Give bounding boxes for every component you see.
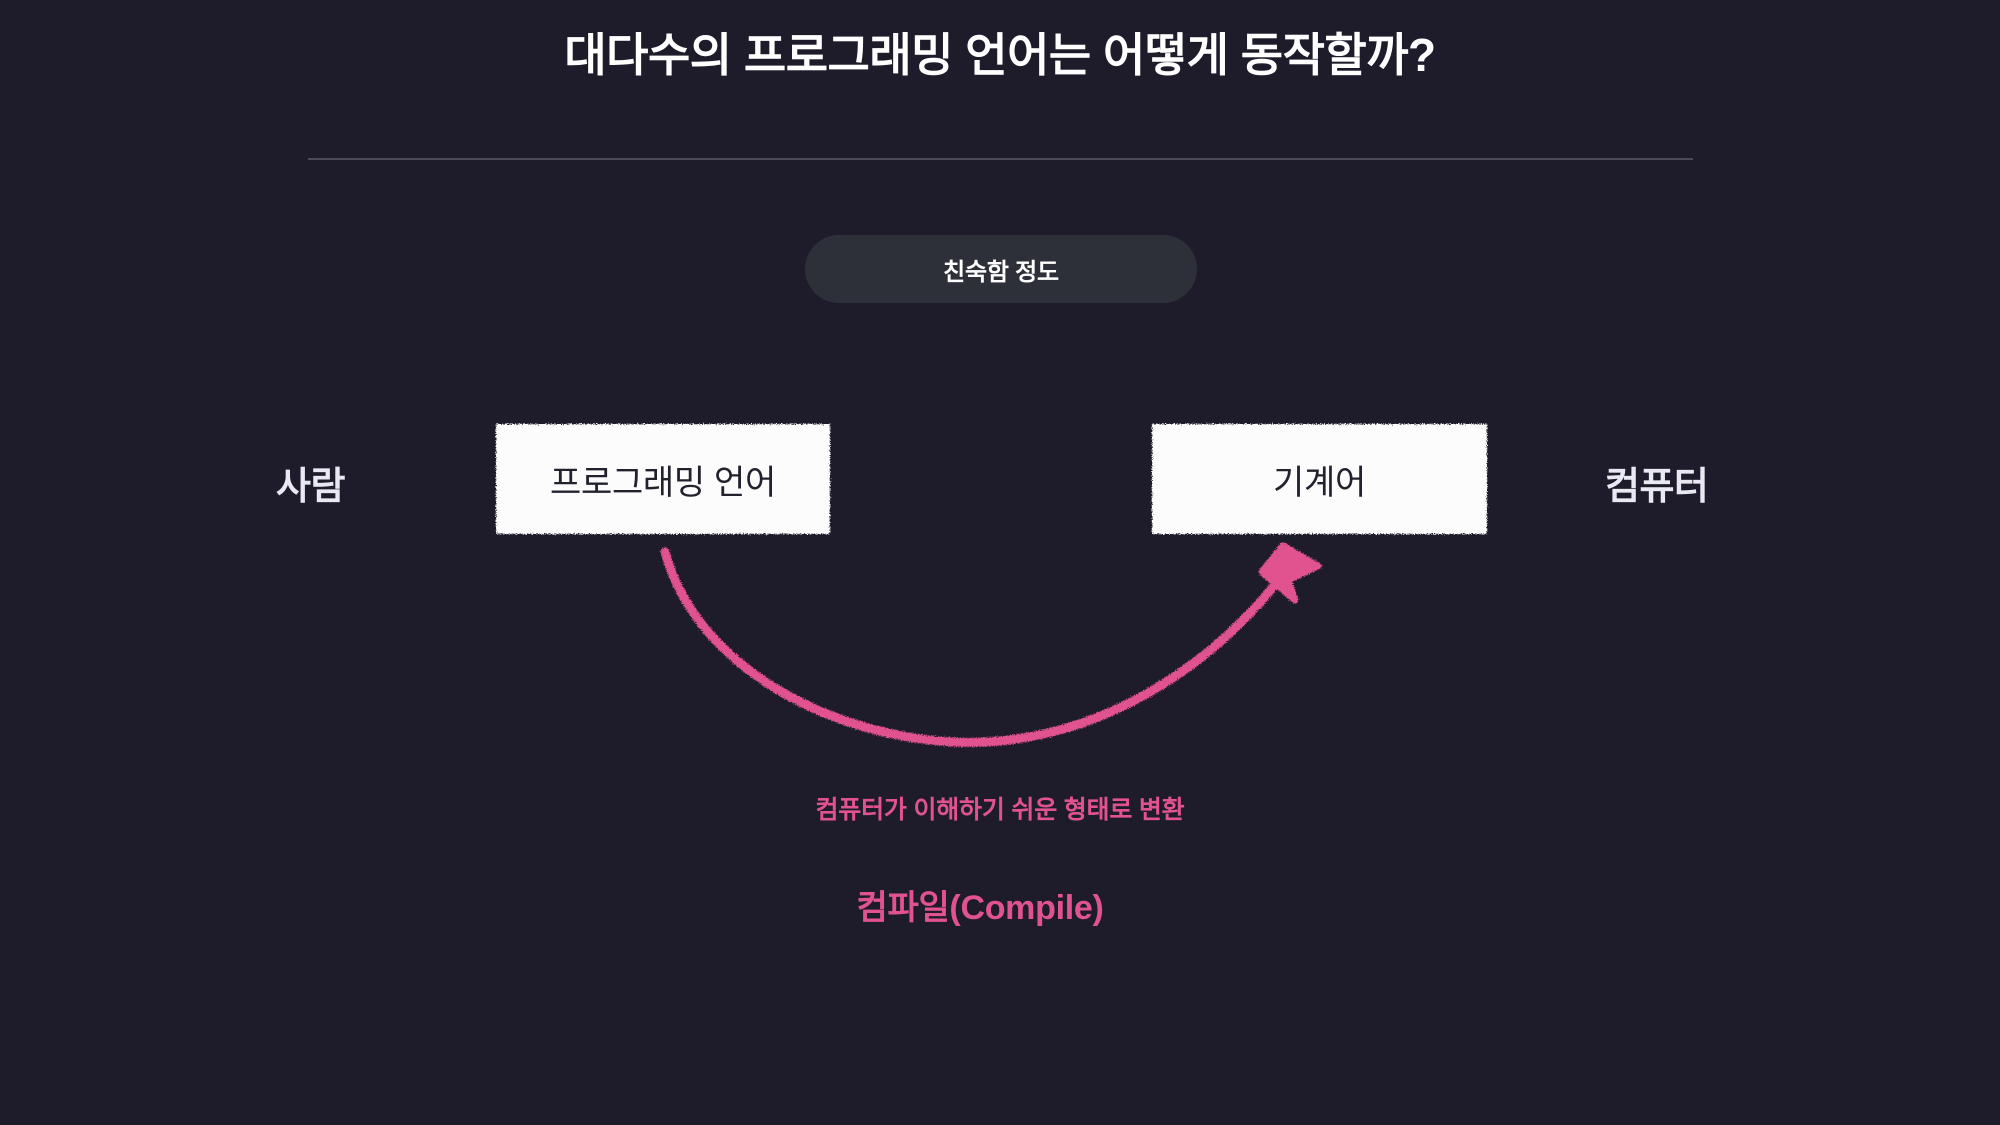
- caption-conversion: 컴퓨터가 이해하기 쉬운 형태로 변환: [0, 790, 2000, 826]
- node-box-machine-code: 기계어: [1152, 424, 1487, 534]
- title-divider: [308, 158, 1693, 160]
- slide-canvas: 대다수의 프로그래밍 언어는 어떻게 동작할까? 친숙함 정도: [0, 0, 2000, 1125]
- caption-compile: 컴파일(Compile): [0, 880, 1980, 929]
- node-box-machine-code-label: 기계어: [1273, 455, 1366, 504]
- label-human: 사람: [276, 455, 345, 510]
- node-box-programming-language-label: 프로그래밍 언어: [550, 455, 776, 504]
- node-box-programming-language: 프로그래밍 언어: [496, 424, 830, 534]
- compile-arrow: [665, 546, 1318, 742]
- label-computer: 컴퓨터: [1605, 455, 1708, 510]
- compile-diagram: [0, 0, 2000, 1125]
- page-title: 대다수의 프로그래밍 언어는 어떻게 동작할까?: [0, 28, 2000, 83]
- familiarity-pill: 친숙함 정도: [805, 235, 1197, 303]
- familiarity-pill-label: 친숙함 정도: [943, 252, 1059, 287]
